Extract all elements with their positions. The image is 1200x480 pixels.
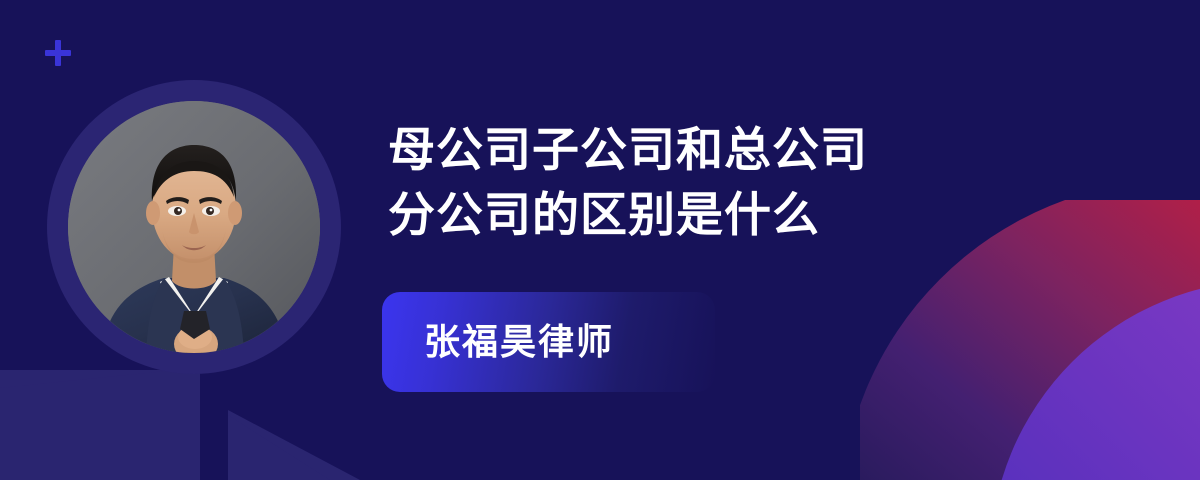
avatar-portrait-illustration xyxy=(68,101,320,353)
content-block: 母公司子公司和总公司分公司的区别是什么 xyxy=(388,118,1128,248)
plus-icon xyxy=(45,40,71,66)
page-title: 母公司子公司和总公司分公司的区别是什么 xyxy=(388,118,908,248)
author-name: 张福昊律师 xyxy=(424,324,614,360)
avatar-ring xyxy=(47,80,341,374)
author-badge: 张福昊律师 xyxy=(382,292,715,392)
avatar xyxy=(68,101,320,353)
lawyer-question-banner: 母公司子公司和总公司分公司的区别是什么 张福昊律师 xyxy=(0,0,1200,480)
